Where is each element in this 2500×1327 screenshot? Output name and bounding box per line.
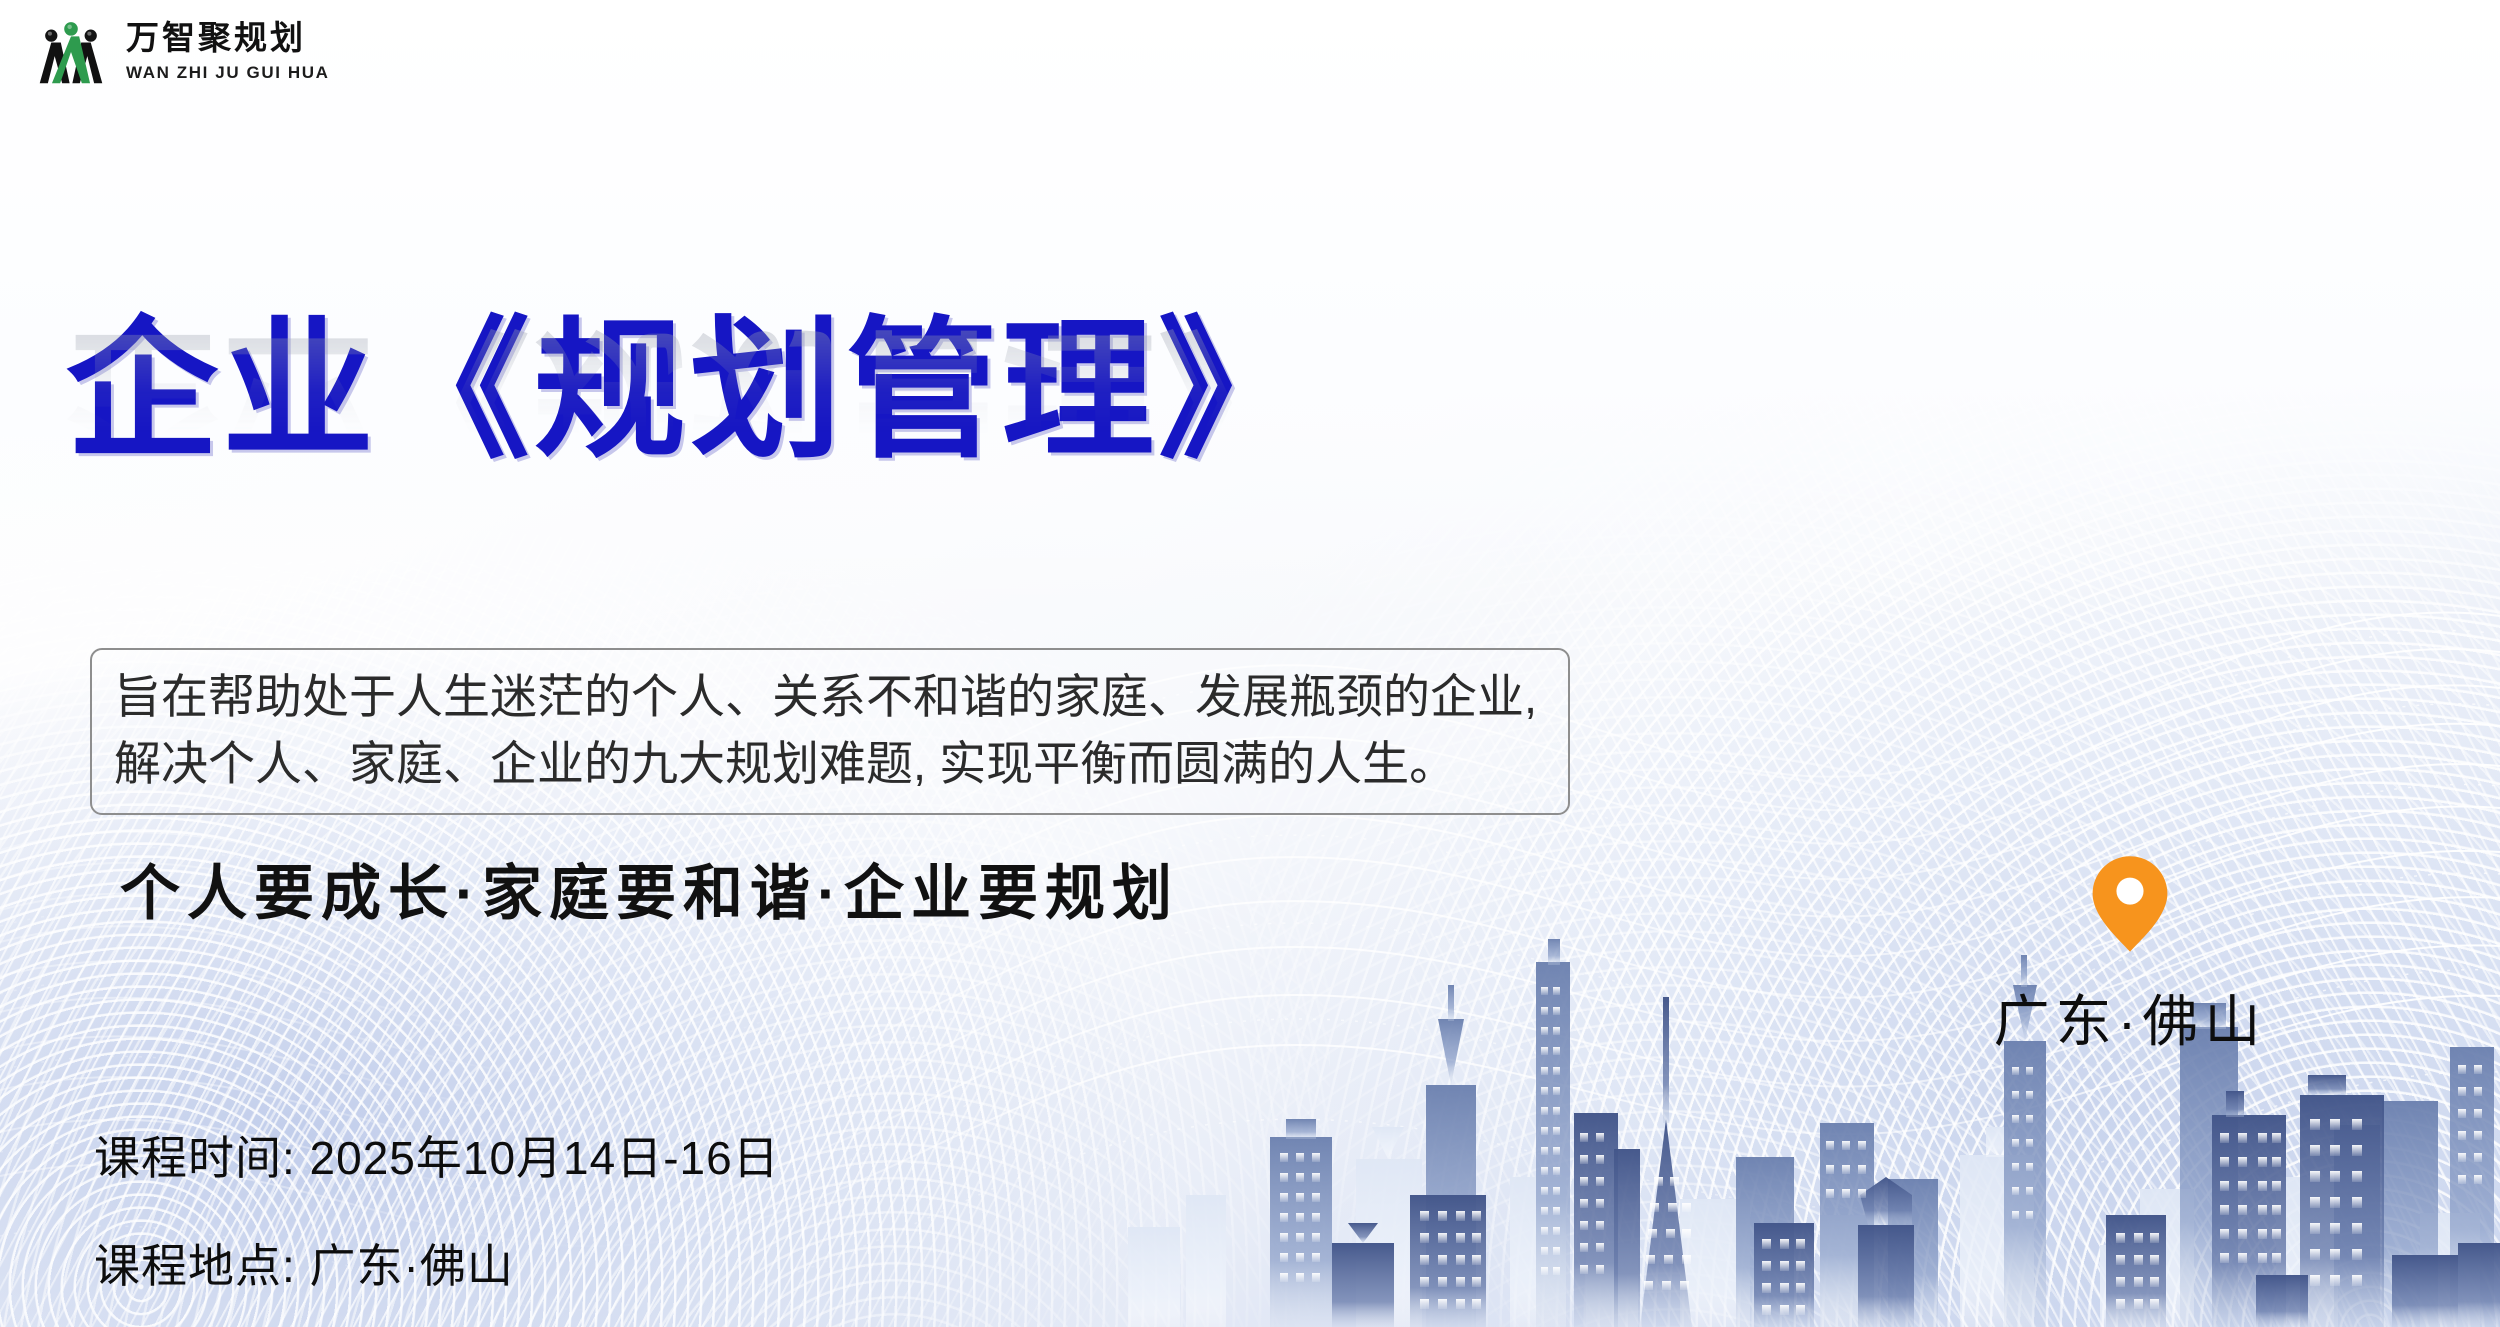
location-block: 广东·佛山 xyxy=(1960,855,2300,1058)
description-line-1: 旨在帮助处于人生迷茫的个人、关系不和谐的家庭、发展瓶颈的企业, xyxy=(114,664,1546,731)
course-info: 课程时间: 2025年10月14日-16日 课程地点: 广东·佛山 xyxy=(94,1122,780,1296)
map-pin-icon xyxy=(2091,855,2169,953)
brand-name-en: WAN ZHI JU GUI HUA xyxy=(126,64,330,81)
location-label: 广东·佛山 xyxy=(1994,977,2267,1058)
tagline: 个人要成长·家庭要和谐·企业要规划 xyxy=(120,845,1179,932)
course-place-row: 课程地点: 广东·佛山 xyxy=(94,1230,780,1296)
brand-logo-text: 万智聚规划 WAN ZHI JU GUI HUA xyxy=(126,23,330,81)
course-time-row: 课程时间: 2025年10月14日-16日 xyxy=(94,1122,780,1188)
description-line-2: 解决个人、家庭、企业的九大规划难题, 实现平衡而圆满的人生。 xyxy=(114,731,1546,798)
page-title-reflection: 企业《规划管理》 xyxy=(66,321,1666,473)
poster-canvas: 万智聚规划 WAN ZHI JU GUI HUA 企业《规划管理》 企业《规划管… xyxy=(0,0,2500,1327)
three-people-logo-icon xyxy=(30,18,112,86)
brand-name-cn: 万智聚规划 xyxy=(126,23,330,56)
description-box: 旨在帮助处于人生迷茫的个人、关系不和谐的家庭、发展瓶颈的企业, 解决个人、家庭、… xyxy=(90,648,1570,815)
hero-title-block: 企业《规划管理》 企业《规划管理》 xyxy=(66,315,1666,645)
brand-logo[interactable]: 万智聚规划 WAN ZHI JU GUI HUA xyxy=(30,18,330,86)
